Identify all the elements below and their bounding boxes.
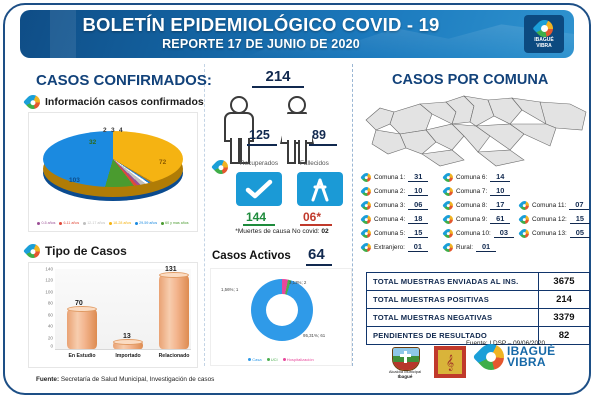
pin-icon — [360, 171, 373, 184]
pin-icon — [360, 227, 373, 240]
comuna-row-7: Comuna 7: 10 — [444, 186, 510, 196]
table-value: 3379 — [539, 309, 589, 326]
table-label: TOTAL MUESTRAS POSITIVAS — [367, 291, 539, 308]
pin-icon — [442, 241, 455, 254]
comuna-value: 18 — [408, 214, 428, 224]
comuna-row-4: Comuna 4: 18 — [362, 214, 428, 224]
comuna-label: Comuna 9: — [456, 216, 487, 223]
pie-label-1: 3 — [111, 127, 115, 134]
comuna-label: Comuna 8: — [456, 202, 487, 209]
ytick-4: 80 — [48, 301, 53, 306]
activos-title: Casos Activos — [212, 250, 291, 262]
bar-value-0: 70 — [75, 300, 83, 307]
ibague-vibra-logo-icon: IBAGUÉ VIBRA — [524, 15, 564, 53]
comuna-label: Comuna 2: — [374, 188, 405, 195]
pin-icon — [442, 171, 455, 184]
bulletin-page: BOLETÍN EPIDEMIOLÓGICO COVID - 19 REPORT… — [0, 0, 600, 400]
page-title: BOLETÍN EPIDEMIOLÓGICO COVID - 19 — [46, 14, 476, 36]
table-value: 3675 — [539, 273, 589, 290]
comuna-value: 31 — [408, 172, 428, 182]
ytick-5: 100 — [45, 289, 53, 294]
comuna-value: 01 — [408, 242, 428, 252]
ibague-vibra-footer-logo: IBAGUÉ VIBRA — [478, 344, 555, 370]
ytick-0: 0 — [50, 344, 53, 349]
comuna-label: Comuna 6: — [456, 174, 487, 181]
comuna-value: 10 — [490, 186, 510, 196]
total-confirmados-value: 214 — [248, 68, 308, 85]
pin-icon — [518, 199, 531, 212]
comuna-row-5: Comuna 5: 15 — [362, 228, 428, 238]
no-covid-note: *Muertes de causa No covid: 02 — [214, 228, 350, 235]
donut-legend-casa: Casa — [248, 357, 261, 362]
pie-label-2: 4 — [119, 127, 123, 134]
comuna-label: Rural: — [456, 244, 473, 251]
comuna-label: Extranjero: — [374, 244, 405, 251]
logo-line2: VIBRA — [536, 44, 552, 50]
table-row: TOTAL MUESTRAS NEGATIVAS 3379 — [367, 309, 589, 327]
pin-icon — [360, 199, 373, 212]
legend-item-4: 29-59 años — [135, 221, 157, 225]
page-subtitle: REPORTE 17 DE JUNIO DE 2020 — [46, 37, 476, 51]
comuna-label: Comuna 1: — [374, 174, 405, 181]
donut-legend-uci: UCI — [267, 357, 278, 362]
comuna-label: Comuna 13: — [532, 230, 567, 237]
comuna-row-6: Comuna 6: 14 — [444, 172, 510, 182]
comuna-row-3: Comuna 3: 06 — [362, 200, 428, 210]
pin-icon — [442, 227, 455, 240]
ytick-1: 20 — [48, 335, 53, 340]
legend-item-5: 60 y mas años — [161, 221, 188, 225]
no-covid-note-value: 02 — [321, 228, 328, 235]
donut-chart-card: 1,56%; 1 3,13%; 2 95,31%; 61 Casa UCI Ho… — [210, 268, 352, 366]
comuna-row-13: Comuna 13: 05 — [520, 228, 590, 238]
ytick-3: 60 — [48, 312, 53, 317]
table-value: 82 — [539, 327, 589, 344]
comuna-value: 03 — [494, 228, 514, 238]
pin-icon — [360, 213, 373, 226]
comuna-label: Comuna 7: — [456, 188, 487, 195]
comuna-value: 10 — [408, 186, 428, 196]
recuperados-label: Recuperados — [240, 160, 278, 167]
tipo-casos-header: Tipo de Casos — [26, 244, 127, 258]
bar-y-axis: 0 20 40 60 80 100 120 140 — [35, 269, 53, 349]
donut-label-casa: 95,31%; 61 — [303, 333, 325, 338]
comuna-row-1: Comuna 1: 31 — [362, 172, 428, 182]
treble-clef-icon: 𝄞 — [438, 350, 462, 374]
legend-item-3: 18-28 años — [109, 221, 131, 225]
comuna-label: Comuna 4: — [374, 216, 405, 223]
pie-label-0: 2 — [103, 127, 107, 134]
pin-icon — [442, 213, 455, 226]
check-icon — [245, 179, 273, 199]
comuna-value: 05 — [570, 228, 590, 238]
bar-label-2: Relacionado — [151, 353, 197, 359]
comuna-value: 61 — [490, 214, 510, 224]
comuna-value: 15 — [408, 228, 428, 238]
ytick-6: 120 — [45, 278, 53, 283]
comuna-value: 01 — [476, 242, 496, 252]
donut-hole — [266, 294, 298, 326]
alcaldia-ibague-crest-icon: Alcaldía Municipal Ibagué — [388, 346, 422, 378]
vertical-divider-right — [352, 64, 353, 366]
ytick-2: 40 — [48, 324, 53, 329]
pin-icon — [360, 241, 373, 254]
ytick-7: 140 — [45, 267, 53, 272]
total-underline — [252, 86, 304, 88]
bar-chart-card: 0 20 40 60 80 100 120 140 70 13 131 En E… — [28, 262, 198, 368]
table-label: TOTAL MUESTRAS ENVIADAS AL INS. — [367, 273, 539, 290]
pie-label-4: 103 — [69, 177, 80, 184]
comuna-row-10: Comuna 10: 03 — [444, 228, 514, 238]
donut-legend: Casa UCI Hospitalización — [211, 357, 351, 362]
drop-icon — [23, 92, 43, 112]
bar-en-estudio — [67, 309, 97, 349]
bar-relacionado — [159, 275, 189, 349]
comuna-value: 17 — [490, 200, 510, 210]
footer-source-rest: Secretaría de Salud Municipal, Investiga… — [59, 376, 214, 383]
legend-item-0: 0-5 años — [37, 221, 55, 225]
comuna-value: 14 — [490, 172, 510, 182]
comuna-row-11: Comuna 11: 07 — [520, 200, 589, 210]
donut-label-uci: 1,56%; 1 — [221, 287, 238, 292]
activos-count: 64 — [308, 246, 325, 263]
male-count: 125 — [249, 128, 270, 142]
comuna-value: 06 — [408, 200, 428, 210]
comuna-value: 07 — [569, 200, 589, 210]
pie-chart: 2 3 4 72 103 32 — [39, 121, 187, 201]
comuna-map — [360, 90, 592, 168]
tipo-casos-title: Tipo de Casos — [45, 244, 127, 258]
recuperados-count: 144 — [246, 210, 266, 224]
footer-source: Fuente: Secretaría de Salud Municipal, I… — [36, 376, 214, 383]
pie-legend: 0-5 años 6-11 años 12-17 años 18-28 años… — [37, 221, 189, 225]
vertical-divider-center — [204, 64, 205, 366]
legend-item-1: 6-11 años — [59, 221, 79, 225]
comuna-label: Comuna 11: — [532, 202, 566, 209]
pin-icon — [442, 185, 455, 198]
section-title-comuna: CASOS POR COMUNA — [392, 72, 548, 88]
bar-value-1: 13 — [123, 333, 131, 340]
bar-label-0: En Estudio — [59, 353, 105, 359]
female-count: 89 — [312, 128, 326, 142]
table-value: 214 — [539, 291, 589, 308]
comuna-row-rural: Rural: 01 — [444, 242, 496, 252]
comuna-row-12: Comuna 12: 15 — [520, 214, 590, 224]
pin-icon — [518, 213, 531, 226]
pin-icon — [518, 227, 531, 240]
comuna-value: 15 — [570, 214, 590, 224]
fallecidos-box — [297, 172, 343, 206]
section-title-confirmados: CASOS CONFIRMADOS: — [36, 72, 212, 89]
activos-underline — [306, 264, 332, 266]
comuna-row-9: Comuna 9: 61 — [444, 214, 510, 224]
ribbon-icon — [308, 176, 332, 202]
info-casos-title: Información casos confirmados — [45, 96, 204, 108]
bar-importado — [113, 342, 143, 349]
donut-legend-hosp: Hospitalización — [283, 357, 314, 362]
pie-label-5: 32 — [89, 139, 96, 146]
samples-table: TOTAL MUESTRAS ENVIADAS AL INS. 3675 TOT… — [366, 272, 590, 345]
footer-source-bold: Fuente: — [36, 376, 59, 383]
comuna-label: Comuna 3: — [374, 202, 405, 209]
comuna-row-2: Comuna 2: 10 — [362, 186, 428, 196]
no-covid-note-text: *Muertes de causa No covid: — [235, 228, 321, 235]
table-row: TOTAL MUESTRAS ENVIADAS AL INS. 3675 — [367, 273, 589, 291]
legend-item-2: 12-17 años — [83, 221, 105, 225]
comuna-label: Comuna 12: — [532, 216, 567, 223]
bar-label-1: Importado — [105, 353, 151, 359]
pin-icon — [442, 199, 455, 212]
recuperados-box — [236, 172, 282, 206]
comuna-label: Comuna 5: — [374, 230, 405, 237]
bar-value-2: 131 — [165, 266, 177, 273]
comuna-row-extranjero: Extranjero: 01 — [362, 242, 428, 252]
fallecidos-count: 06* — [303, 210, 321, 224]
donut-label-hosp: 3,13%; 2 — [289, 280, 306, 285]
pie-label-3: 72 — [159, 159, 166, 166]
page-header: BOLETÍN EPIDEMIOLÓGICO COVID - 19 REPORT… — [20, 10, 574, 58]
alcaldia-line2: Ibagué — [398, 374, 413, 379]
comuna-row-8: Comuna 8: 17 — [444, 200, 510, 210]
comuna-label: Comuna 10: — [456, 230, 491, 237]
donut-chart — [251, 279, 313, 341]
table-label: TOTAL MUESTRAS NEGATIVAS — [367, 309, 539, 326]
drop-icon — [473, 339, 510, 376]
pin-icon — [360, 185, 373, 198]
table-row: TOTAL MUESTRAS POSITIVAS 214 — [367, 291, 589, 309]
ibague-musical-logo-icon: 𝄞 — [434, 346, 466, 378]
fallecidos-label: Fallecidos — [300, 160, 329, 167]
pie-chart-card: 2 3 4 72 103 32 0-5 años 6-11 años 12-17… — [28, 112, 198, 232]
drop-icon — [23, 241, 43, 261]
bar-plot-area: 70 13 131 — [55, 269, 191, 350]
vibra-line2: VIBRA — [507, 357, 555, 368]
info-casos-header: Información casos confirmados — [26, 95, 204, 109]
